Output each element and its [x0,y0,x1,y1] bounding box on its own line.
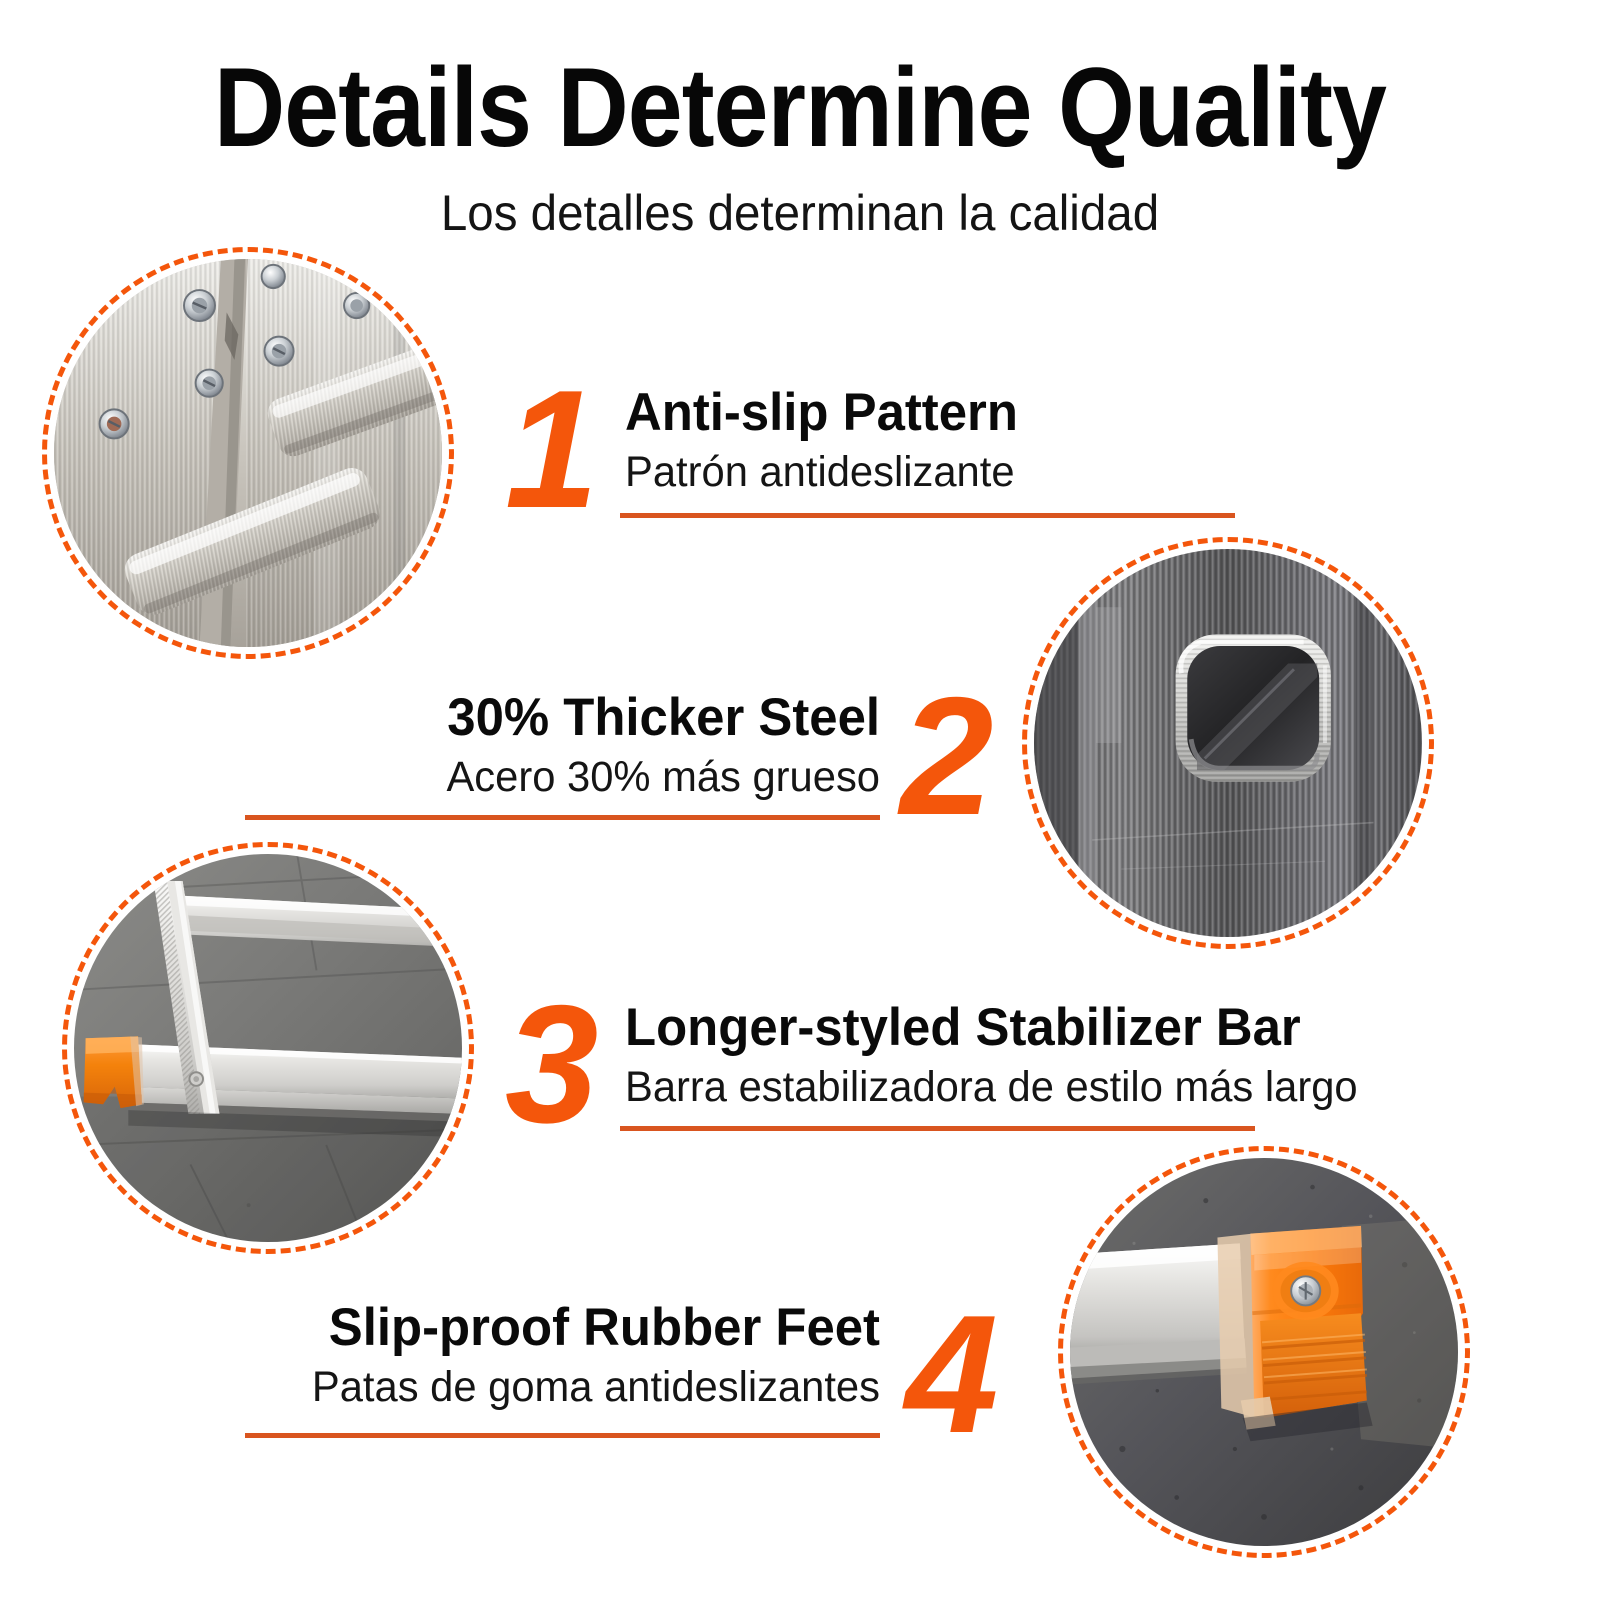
header: Details Determine Quality Los detalles d… [0,0,1600,242]
feature-4-title: Slip-proof Rubber Feet [237,1300,880,1356]
feature-photo-4 [1058,1146,1470,1558]
feature-3-text: Longer-styled Stabilizer Bar Barra estab… [625,1000,1380,1113]
feature-1-number: 1 [505,365,594,533]
infographic-page: Details Determine Quality Los detalles d… [0,0,1600,1600]
feature-3-rule [620,1126,1255,1131]
feature-2-number: 2 [900,672,989,840]
page-title: Details Determine Quality [96,52,1504,164]
feature-3-number: 3 [505,980,594,1148]
steel-tube-socket-photo [1034,549,1422,937]
feature-1-title: Anti-slip Pattern [625,385,1018,441]
feature-4-number: 4 [905,1290,994,1458]
feature-photo-1-clip [54,259,442,647]
feature-4-text: Slip-proof Rubber Feet Patas de goma ant… [210,1300,880,1413]
feature-2-rule [245,815,880,820]
page-subtitle: Los detalles determinan la calidad [40,184,1560,242]
feature-1-subtitle: Patrón antideslizante [625,447,1022,499]
feature-1-text: Anti-slip Pattern Patrón antideslizante [625,385,1034,498]
feature-photo-1 [42,247,454,659]
feature-3-title: Longer-styled Stabilizer Bar [625,1000,1350,1056]
feature-photo-2-clip [1034,549,1422,937]
feature-photo-3 [62,842,474,1254]
feature-3-subtitle: Barra estabilizadora de estilo más largo [625,1062,1358,1114]
feature-4-subtitle: Patas de goma antideslizantes [230,1362,880,1414]
feature-photo-4-clip [1070,1158,1458,1546]
feature-4-rule [245,1433,880,1438]
feature-1-rule [620,513,1235,518]
anti-slip-rung-photo [54,259,442,647]
feature-photo-2 [1022,537,1434,949]
feature-2-title: 30% Thicker Steel [266,690,880,746]
feature-2-text: 30% Thicker Steel Acero 30% más grueso [240,690,880,803]
rubber-foot-photo [1070,1158,1458,1546]
feature-photo-3-clip [74,854,462,1242]
stabilizer-bar-photo [74,854,462,1242]
feature-2-subtitle: Acero 30% más grueso [259,752,880,804]
